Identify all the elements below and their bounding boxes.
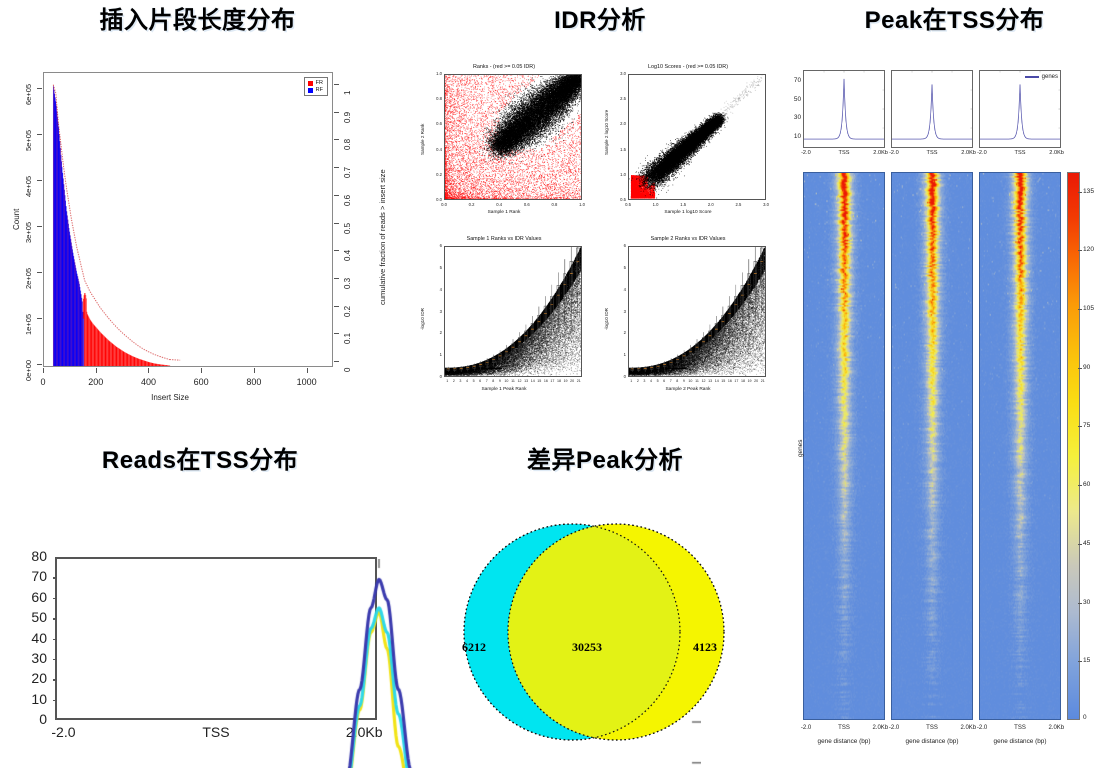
idr-ytick: 0.0 (429, 197, 442, 202)
idr-ytick: 3 (613, 309, 626, 314)
reads-tss-ytick: 0 (11, 711, 47, 727)
idr-ytick: 1.5 (613, 147, 626, 152)
idr-ytick: 2.5 (613, 96, 626, 101)
insert-size-right-tick: 0.6 (343, 195, 352, 206)
idr-xtick: 1.5 (680, 202, 686, 207)
peak-tss-colorbar-tick: 15 (1083, 657, 1090, 664)
idr-xtick: 16 (544, 379, 548, 383)
idr-xtick: 3 (459, 379, 461, 383)
insert-size-ytick-mark (37, 226, 42, 227)
insert-size-ytick: 5e+05 (24, 130, 33, 151)
idr-subplot-title: Sample 2 Ranks vs IDR Values (602, 236, 774, 242)
peak-tss-colorbar-tick-mark (1078, 661, 1082, 662)
idr-xtick: 1.0 (653, 202, 659, 207)
peak-tss-colorbar-tick-mark (1078, 250, 1082, 251)
insert-size-right-tick-mark (334, 278, 339, 279)
insert-size-right-tick-mark (334, 333, 339, 334)
peak-tss-colorbar-tick: 45 (1083, 540, 1090, 547)
slide-root: 插入片段长度分布 Count 0e+001e+052e+053e+054e+05… (0, 0, 1119, 768)
insert-size-right-tick: 0.2 (343, 305, 352, 316)
peak-tss-heatmap-xtick: TSS (838, 725, 850, 731)
insert-size-right-tick: 0.5 (343, 222, 352, 233)
insert-size-xtick-mark (201, 368, 202, 373)
insert-size-xtick-mark (43, 368, 44, 373)
idr-xlabel: Sample 1 log10 Score (602, 210, 774, 215)
panel-title-insert-size: 插入片段长度分布 (0, 0, 395, 35)
legend-swatch-rf (308, 88, 313, 93)
idr-xtick: 20 (754, 379, 758, 383)
insert-size-right-tick-mark (334, 112, 339, 113)
idr-scatter-canvas (629, 247, 765, 376)
peak-tss-colorbar (1067, 172, 1080, 720)
idr-ytick: 0.2 (429, 172, 442, 177)
insert-size-right-tick-mark (334, 167, 339, 168)
insert-size-right-tick: 0.3 (343, 278, 352, 289)
peak-tss-colorbar-tick: 135 (1083, 188, 1094, 195)
idr-plot-area (628, 246, 766, 377)
peak-tss-profile-canvas (892, 71, 972, 147)
idr-xtick: 6 (479, 379, 481, 383)
idr-xtick: 0.6 (524, 202, 530, 207)
idr-xtick: 10 (504, 379, 508, 383)
insert-size-xtick: 0 (40, 377, 45, 387)
reads-tss-ytick: 10 (11, 691, 47, 707)
idr-xtick: 18 (741, 379, 745, 383)
insert-size-right-tick: 0.1 (343, 333, 352, 344)
insert-size-ytick: 6e+05 (24, 84, 33, 105)
idr-xtick: 20 (570, 379, 574, 383)
idr-ytick: 0.8 (429, 96, 442, 101)
peak-tss-profile-canvas (980, 71, 1060, 147)
insert-size-xtick: 200 (88, 377, 103, 387)
insert-size-ytick: 3e+05 (24, 222, 33, 243)
peak-tss-colorbar-tick-mark (1078, 603, 1082, 604)
idr-ytick: 0.4 (429, 147, 442, 152)
insert-size-xtick-mark (148, 368, 149, 373)
peak-tss-colorbar-tick-mark (1078, 544, 1082, 545)
idr-xtick: 21 (761, 379, 765, 383)
idr-xtick: 0.2 (469, 202, 475, 207)
idr-scatter-canvas (445, 75, 581, 199)
idr-xtick: 0.0 (441, 202, 447, 207)
idr-xtick: 0.4 (496, 202, 502, 207)
idr-xtick: 18 (557, 379, 561, 383)
idr-xtick: 12 (702, 379, 706, 383)
panel-title-reads-tss: Reads在TSS分布 (0, 440, 400, 475)
idr-ylabel: -log10 IDR (604, 308, 609, 330)
insert-size-right-tick: 1 (343, 91, 352, 95)
idr-ytick: 3 (429, 309, 442, 314)
insert-size-plot-area: FR RF (43, 72, 333, 367)
idr-plot-area (444, 74, 582, 200)
panel-diff-peak: 差异Peak分析 6212 30253 4123 (420, 440, 790, 768)
legend-label-fr: FR (316, 80, 323, 86)
insert-size-xtick: 800 (246, 377, 261, 387)
idr-xtick: 16 (728, 379, 732, 383)
peak-tss-profile-ytick: 10 (790, 133, 801, 140)
peak-tss-profile-xtick: 2.0Kb (961, 150, 976, 156)
peak-tss-profile-xtick: -2.0 (801, 150, 811, 156)
idr-xtick: 7 (486, 379, 488, 383)
idr-xtick: 13 (708, 379, 712, 383)
peak-tss-heatmap-xtick: 2.0Kb (1048, 725, 1064, 731)
insert-size-ytick: 0e+00 (24, 360, 33, 381)
idr-xtick: 13 (524, 379, 528, 383)
insert-size-ytick-mark (37, 88, 42, 89)
reads-tss-ytick: 30 (11, 650, 47, 666)
idr-ytick: 6 (429, 243, 442, 248)
peak-tss-heatmap-xtick: -2.0 (977, 725, 987, 731)
idr-scatter-canvas (445, 247, 581, 376)
peak-tss-colorbar-tick-mark (1078, 368, 1082, 369)
panel-title-diff-peak: 差异Peak分析 (420, 440, 790, 475)
peak-tss-row-label: genes (797, 440, 804, 457)
idr-xtick: 5 (657, 379, 659, 383)
insert-size-xtick: 400 (141, 377, 156, 387)
idr-ytick: 1.0 (613, 172, 626, 177)
venn-label-right: 4123 (693, 640, 717, 655)
peak-tss-heatmap-1 (803, 172, 885, 720)
peak-tss-profile-xtick: -2.0 (889, 150, 899, 156)
idr-plot-area (444, 246, 582, 377)
peak-tss-heatmap-xtick: -2.0 (801, 725, 811, 731)
idr-subplot-sample2-ranks-idr: Sample 2 Ranks vs IDR Values012345612345… (602, 236, 774, 401)
idr-ytick: 3.0 (613, 71, 626, 76)
idr-subplot-title: Log10 Scores - (red >= 0.05 IDR) (602, 64, 774, 70)
peak-tss-profile-3: genes (979, 70, 1061, 148)
idr-ylabel: -log10 IDR (420, 308, 425, 330)
idr-ytick: 2 (429, 330, 442, 335)
peak-tss-profile-xtick: 2.0Kb (873, 150, 888, 156)
reads-tss-plot-area (55, 557, 377, 720)
peak-tss-heatmap-2 (891, 172, 973, 720)
peak-tss-heatmap-xtick: TSS (926, 725, 938, 731)
reads-tss-ytick: 50 (11, 609, 47, 625)
legend-swatch-fr (308, 81, 313, 86)
idr-xtick: 1 (630, 379, 632, 383)
idr-subplot-grid: Ranks - (red >= 0.05 IDR)0.00.20.40.60.8… (410, 60, 790, 405)
peak-tss-profile-1 (803, 70, 885, 148)
idr-ytick: 1 (429, 352, 442, 357)
insert-size-right-axis-title: cumulative fraction of reads > insert si… (378, 169, 387, 305)
insert-size-ytick-mark (37, 364, 42, 365)
insert-size-legend: FR RF (304, 77, 328, 96)
idr-ytick: 0 (429, 374, 442, 379)
reads-tss-ytick: 70 (11, 568, 47, 584)
idr-ytick: 4 (429, 287, 442, 292)
idr-xtick: 11 (511, 379, 515, 383)
peak-tss-colorbar-tick: 30 (1083, 599, 1090, 606)
peak-tss-colorbar-tick: 0 (1083, 714, 1087, 721)
peak-tss-legend: genes (1025, 74, 1058, 80)
peak-tss-profile-xtick: TSS (1015, 150, 1026, 156)
venn-label-left: 6212 (462, 640, 486, 655)
peak-tss-profile-xtick: 2.0Kb (1049, 150, 1064, 156)
insert-size-right-tick-mark (334, 361, 339, 362)
panel-peak-tss: Peak在TSS分布 -2.0TSS2.0Kb-2.0TSS2.0Kbgenes… (790, 0, 1119, 768)
insert-size-xtick: 600 (194, 377, 209, 387)
idr-xtick: 15 (721, 379, 725, 383)
insert-size-right-tick: 0.8 (343, 139, 352, 150)
idr-subplot-title: Ranks - (red >= 0.05 IDR) (418, 64, 590, 70)
venn-diagram (420, 504, 790, 764)
idr-ylabel: Sample 2 log10 Score (604, 110, 609, 155)
idr-xtick: 19 (564, 379, 568, 383)
idr-xtick: 4 (650, 379, 652, 383)
idr-xtick: 0.8 (551, 202, 557, 207)
peak-tss-profile-canvas (804, 71, 884, 147)
idr-ytick: 0.6 (429, 121, 442, 126)
insert-size-ytick-mark (37, 272, 42, 273)
peak-tss-profile-ytick: 30 (790, 114, 801, 121)
idr-ytick: 0.5 (613, 197, 626, 202)
idr-ytick: 0 (613, 374, 626, 379)
idr-xtick: 21 (577, 379, 581, 383)
idr-xtick: 2.0 (708, 202, 714, 207)
idr-subplot-ranks-scatter: Ranks - (red >= 0.05 IDR)0.00.20.40.60.8… (418, 64, 590, 224)
idr-xtick: 3.0 (763, 202, 769, 207)
peak-tss-legend-line (1025, 76, 1039, 78)
idr-xtick: 5 (473, 379, 475, 383)
idr-xtick: 3 (643, 379, 645, 383)
insert-size-right-tick-mark (334, 84, 339, 85)
idr-xtick: 11 (695, 379, 699, 383)
idr-xtick: 8 (676, 379, 678, 383)
idr-subplot-sample1-ranks-idr: Sample 1 Ranks vs IDR Values012345612345… (418, 236, 590, 401)
idr-xtick: 1 (446, 379, 448, 383)
idr-xtick: 2.5 (735, 202, 741, 207)
idr-xtick: 7 (670, 379, 672, 383)
reads-tss-ytick: 60 (11, 589, 47, 605)
peak-tss-colorbar-tick-mark (1078, 192, 1082, 193)
insert-size-xtick-mark (307, 368, 308, 373)
peak-tss-colorbar-tick: 120 (1083, 246, 1094, 253)
idr-xtick: 8 (492, 379, 494, 383)
peak-tss-profile-2 (891, 70, 973, 148)
insert-size-ytick: 4e+05 (24, 176, 33, 197)
insert-size-yaxis-title: Count (12, 209, 21, 230)
peak-tss-colorbar-tick: 75 (1083, 422, 1090, 429)
venn-label-center: 30253 (572, 640, 602, 655)
idr-xtick: 12 (518, 379, 522, 383)
peak-tss-colorbar-tick: 60 (1083, 481, 1090, 488)
idr-xlabel: Sample 2 Peak Rank (602, 387, 774, 392)
peak-tss-colorbar-tick-mark (1078, 426, 1082, 427)
peak-tss-heatmap-canvas (892, 173, 972, 719)
insert-size-right-tick: 0.4 (343, 250, 352, 261)
peak-tss-colorbar-tick-mark (1078, 485, 1082, 486)
idr-ytick: 1.0 (429, 71, 442, 76)
idr-ytick: 2 (613, 330, 626, 335)
legend-item-rf: RF (308, 87, 323, 93)
idr-xtick: 15 (537, 379, 541, 383)
insert-size-right-tick-mark (334, 250, 339, 251)
idr-ytick: 5 (429, 265, 442, 270)
reads-tss-ytick: 80 (11, 548, 47, 564)
insert-size-xtick: 1000 (297, 377, 317, 387)
idr-ylabel: Sample 2 Rank (420, 124, 425, 155)
insert-size-xtick-mark (96, 368, 97, 373)
panel-insert-size: 插入片段长度分布 Count 0e+001e+052e+053e+054e+05… (0, 0, 395, 430)
idr-ytick: 4 (613, 287, 626, 292)
insert-size-right-tick-mark (334, 139, 339, 140)
idr-xtick: 19 (748, 379, 752, 383)
idr-ytick: 2.0 (613, 121, 626, 126)
idr-subplot-title: Sample 1 Ranks vs IDR Values (418, 236, 590, 242)
insert-size-right-tick-mark (334, 195, 339, 196)
reads-tss-ytick: 40 (11, 630, 47, 646)
idr-xtick: 14 (531, 379, 535, 383)
insert-size-right-tick: 0.7 (343, 167, 352, 178)
idr-xlabel: Sample 1 Peak Rank (418, 387, 590, 392)
peak-tss-heatmap-canvas (804, 173, 884, 719)
idr-xtick: 9 (499, 379, 501, 383)
idr-xtick: 0.5 (625, 202, 631, 207)
peak-tss-heatmap-xtick: TSS (1014, 725, 1026, 731)
panel-idr: IDR分析 Ranks - (red >= 0.05 IDR)0.00.20.4… (410, 0, 790, 430)
peak-tss-colorbar-tick: 105 (1083, 305, 1094, 312)
idr-xtick: 2 (637, 379, 639, 383)
insert-size-right-tick: 0 (343, 368, 352, 372)
idr-ytick: 5 (613, 265, 626, 270)
peak-tss-heatmap-xlabel: gene distance (bp) (891, 738, 973, 745)
insert-size-ytick: 2e+05 (24, 268, 33, 289)
panel-title-idr: IDR分析 (410, 0, 790, 35)
peak-tss-profile-xtick: TSS (927, 150, 938, 156)
peak-tss-profile-xtick: -2.0 (977, 150, 987, 156)
insert-size-ytick: 1e+05 (24, 314, 33, 335)
idr-xtick: 6 (663, 379, 665, 383)
peak-tss-heatmap-xlabel: gene distance (bp) (803, 738, 885, 745)
peak-tss-heatmap-root: -2.0TSS2.0Kb-2.0TSS2.0Kbgenes-2.0TSS2.0K… (790, 0, 1119, 768)
idr-plot-area (628, 74, 766, 200)
idr-xtick: 9 (683, 379, 685, 383)
peak-tss-profile-xtick: TSS (839, 150, 850, 156)
peak-tss-heatmap-xtick: 2.0Kb (960, 725, 976, 731)
insert-size-ytick-mark (37, 180, 42, 181)
idr-xtick: 2 (453, 379, 455, 383)
idr-xtick: 1.0 (579, 202, 585, 207)
legend-label-rf: RF (316, 87, 323, 93)
idr-xtick: 10 (688, 379, 692, 383)
idr-xlabel: Sample 1 Rank (418, 210, 590, 215)
reads-tss-ytick: 20 (11, 670, 47, 686)
insert-size-right-tick: 0.9 (343, 112, 352, 123)
insert-size-ytick-mark (37, 318, 42, 319)
peak-tss-profile-ytick: 50 (790, 96, 801, 103)
idr-ytick: 1 (613, 352, 626, 357)
legend-item-fr: FR (308, 80, 323, 86)
idr-xtick: 14 (715, 379, 719, 383)
peak-tss-heatmap-xtick: 2.0Kb (872, 725, 888, 731)
peak-tss-legend-label: genes (1042, 74, 1058, 80)
peak-tss-profile-ytick: 70 (790, 77, 801, 84)
insert-size-xtick-mark (254, 368, 255, 373)
idr-xtick: 4 (466, 379, 468, 383)
idr-xtick: 17 (550, 379, 554, 383)
peak-tss-colorbar-tick-mark (1078, 309, 1082, 310)
insert-size-right-tick-mark (334, 306, 339, 307)
insert-size-right-tick-mark (334, 223, 339, 224)
peak-tss-colorbar-tick: 90 (1083, 364, 1090, 371)
idr-xtick: 17 (734, 379, 738, 383)
insert-size-histogram-canvas (44, 73, 332, 366)
peak-tss-heatmap-xtick: -2.0 (889, 725, 899, 731)
insert-size-xaxis-title: Insert Size (0, 393, 340, 402)
peak-tss-heatmap-3 (979, 172, 1061, 720)
insert-size-ytick-mark (37, 134, 42, 135)
idr-subplot-log10-scores-scatter: Log10 Scores - (red >= 0.05 IDR)0.51.01.… (602, 64, 774, 224)
idr-scatter-canvas (629, 75, 765, 199)
idr-ytick: 6 (613, 243, 626, 248)
peak-tss-heatmap-canvas (980, 173, 1060, 719)
peak-tss-heatmap-xlabel: gene distance (bp) (979, 738, 1061, 745)
